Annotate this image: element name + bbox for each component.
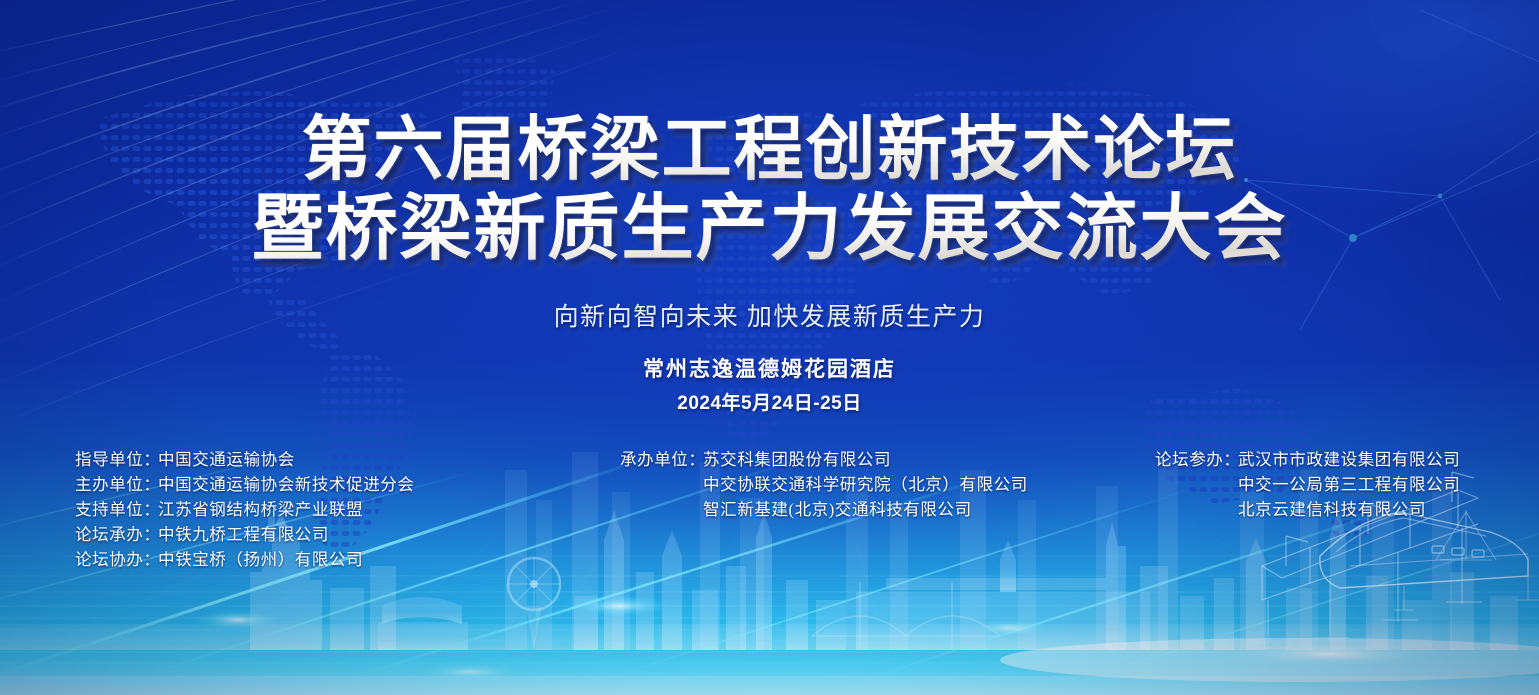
banner-title-line-2: 暨桥梁新质生产力发展交流大会 (0, 190, 1539, 268)
organization-name: 北京云建信科技有限公司 (1238, 497, 1426, 522)
organization-column-left: 指导单位：中国交通运输协会主办单位：中国交通运输协会新技术促进分会支持单位：江苏… (75, 447, 415, 572)
organization-row: 中交一公局第三工程有限公司 (1155, 472, 1460, 497)
banner-subtitle: 向新向智向未来 加快发展新质生产力 (0, 297, 1539, 333)
organization-name: 中国交通运输协会新技术促进分会 (158, 472, 415, 497)
organization-name: 江苏省钢结构桥梁产业联盟 (158, 497, 363, 522)
organization-column-right: 论坛参办：武汉市市政建设集团有限公司 中交一公局第三工程有限公司 北京云建信科技… (1155, 447, 1460, 522)
organization-name: 中交一公局第三工程有限公司 (1238, 472, 1460, 497)
organization-row: 北京云建信科技有限公司 (1155, 497, 1460, 522)
organization-label: 支持单位： (75, 497, 158, 522)
organization-name: 中铁宝桥（扬州）有限公司 (158, 547, 363, 572)
organization-column-middle: 承办单位：苏交科集团股份有限公司 中交协联交通科学研究院（北京）有限公司 智汇新… (620, 447, 1028, 522)
venue-block: 常州志逸温德姆花园酒店 2024年5月24日-25日 (0, 353, 1539, 415)
organization-row: 支持单位：江苏省钢结构桥梁产业联盟 (75, 497, 415, 522)
organization-row: 指导单位：中国交通运输协会 (75, 447, 415, 472)
organization-label: 指导单位： (75, 447, 158, 472)
organization-label: 承办单位： (620, 447, 703, 472)
organization-name: 武汉市市政建设集团有限公司 (1238, 447, 1460, 472)
organization-row: 承办单位：苏交科集团股份有限公司 (620, 447, 1028, 472)
organization-label: 论坛承办： (75, 522, 158, 547)
banner-title-line-1: 第六届桥梁工程创新技术论坛 (0, 112, 1539, 190)
organization-label: 论坛参办： (1155, 447, 1238, 472)
organization-name: 中交协联交通科学研究院（北京）有限公司 (703, 472, 1028, 497)
organization-row: 智汇新基建(北京)交通科技有限公司 (620, 497, 1028, 522)
organization-row: 论坛参办：武汉市市政建设集团有限公司 (1155, 447, 1460, 472)
conference-banner: 第六届桥梁工程创新技术论坛 暨桥梁新质生产力发展交流大会 向新向智向未来 加快发… (0, 0, 1539, 695)
organization-row: 论坛承办：中铁九桥工程有限公司 (75, 522, 415, 547)
organization-label: 主办单位： (75, 472, 158, 497)
organization-label: 论坛协办： (75, 547, 158, 572)
organization-name: 中铁九桥工程有限公司 (158, 522, 329, 547)
organization-row: 主办单位：中国交通运输协会新技术促进分会 (75, 472, 415, 497)
banner-title-block: 第六届桥梁工程创新技术论坛 暨桥梁新质生产力发展交流大会 (0, 112, 1539, 268)
venue-date: 2024年5月24日-25日 (0, 388, 1539, 415)
organization-row: 论坛协办：中铁宝桥（扬州）有限公司 (75, 547, 415, 572)
organization-name: 苏交科集团股份有限公司 (703, 447, 891, 472)
organization-row: 中交协联交通科学研究院（北京）有限公司 (620, 472, 1028, 497)
organization-name: 智汇新基建(北京)交通科技有限公司 (703, 497, 972, 522)
organization-name: 中国交通运输协会 (158, 447, 295, 472)
venue-name: 常州志逸温德姆花园酒店 (0, 353, 1539, 383)
